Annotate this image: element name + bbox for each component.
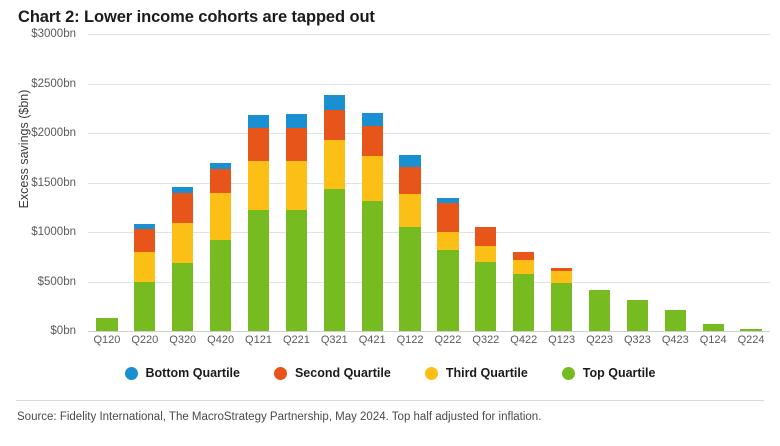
bar-segment[interactable] (513, 260, 534, 274)
y-axis-tick-label: $2500bn (14, 78, 76, 90)
legend-item-label: Second Quartile (295, 366, 391, 380)
bar-segment[interactable] (172, 263, 193, 331)
bar-segment[interactable] (248, 161, 269, 211)
bar-column[interactable] (277, 34, 315, 331)
bar-segment[interactable] (172, 223, 193, 263)
x-axis-tick-label: Q121 (240, 334, 278, 346)
legend-item-third[interactable]: Third Quartile (425, 366, 528, 380)
axis-baseline (88, 331, 770, 332)
bar-segment[interactable] (437, 203, 458, 232)
bar-column[interactable] (467, 34, 505, 331)
bar-column[interactable] (88, 34, 126, 331)
bar-segment[interactable] (324, 110, 345, 140)
bar-stack (703, 324, 724, 331)
bar-segment[interactable] (172, 187, 193, 194)
plot-area: Excess savings ($bn) $0bn$500bn$1000bn$1… (0, 34, 780, 334)
x-axis-tick-label: Q224 (732, 334, 770, 346)
bar-stack (589, 290, 610, 331)
bar-segment[interactable] (324, 189, 345, 331)
bar-segment[interactable] (248, 115, 269, 128)
x-axis-ticks: Q120Q220Q320Q420Q121Q221Q321Q421Q122Q222… (88, 334, 770, 346)
x-axis-tick-label: Q422 (505, 334, 543, 346)
y-axis-tick-label: $0bn (14, 325, 76, 337)
y-axis-ticks: $0bn$500bn$1000bn$1500bn$2000bn$2500bn$3… (14, 34, 76, 334)
bar-stack (362, 113, 383, 331)
bar-segment[interactable] (399, 227, 420, 331)
bar-segment[interactable] (740, 329, 761, 331)
bar-stack (437, 198, 458, 331)
bar-segment[interactable] (286, 161, 307, 210)
bar-segment[interactable] (324, 95, 345, 110)
bar-segment[interactable] (248, 128, 269, 161)
bar-column[interactable] (353, 34, 391, 331)
y-axis-tick-label: $3000bn (14, 28, 76, 40)
bar-segment[interactable] (399, 194, 420, 227)
bar-segment[interactable] (589, 290, 610, 331)
bar-segment[interactable] (362, 113, 383, 126)
bar-column[interactable] (315, 34, 353, 331)
bar-column[interactable] (202, 34, 240, 331)
bar-segment[interactable] (475, 246, 496, 262)
bar-segment[interactable] (134, 282, 155, 332)
x-axis-tick-label: Q223 (581, 334, 619, 346)
x-axis-tick-label: Q220 (126, 334, 164, 346)
bar-segment[interactable] (513, 274, 534, 331)
bar-segment[interactable] (513, 252, 534, 260)
bar-segment[interactable] (703, 324, 724, 331)
bar-column[interactable] (656, 34, 694, 331)
bar-segment[interactable] (475, 262, 496, 331)
x-axis-tick-label: Q320 (164, 334, 202, 346)
bar-segment[interactable] (362, 156, 383, 202)
bar-stack (665, 310, 686, 331)
legend-swatch-icon (425, 367, 438, 380)
bar-stack (551, 268, 572, 331)
chart-legend: Bottom QuartileSecond QuartileThird Quar… (0, 366, 780, 380)
y-axis-tick-label: $1500bn (14, 177, 76, 189)
x-axis-tick-label: Q222 (429, 334, 467, 346)
bar-stack (248, 115, 269, 331)
legend-item-bottom[interactable]: Bottom Quartile (125, 366, 240, 380)
legend-swatch-icon (274, 367, 287, 380)
x-axis-tick-label: Q323 (618, 334, 656, 346)
x-axis-tick-label: Q123 (543, 334, 581, 346)
x-axis-tick-label: Q423 (656, 334, 694, 346)
bar-series-group (88, 34, 770, 331)
y-axis-tick-label: $2000bn (14, 127, 76, 139)
x-axis-tick-label: Q321 (315, 334, 353, 346)
bar-segment[interactable] (399, 155, 420, 167)
bar-segment[interactable] (210, 169, 231, 194)
bar-column[interactable] (126, 34, 164, 331)
bar-segment[interactable] (437, 232, 458, 250)
bar-column[interactable] (694, 34, 732, 331)
bar-stack (286, 114, 307, 331)
x-axis-tick-label: Q221 (277, 334, 315, 346)
bar-stack (399, 155, 420, 331)
chart-page: Chart 2: Lower income cohorts are tapped… (0, 0, 780, 446)
bar-segment[interactable] (475, 227, 496, 246)
bar-column[interactable] (429, 34, 467, 331)
bar-column[interactable] (391, 34, 429, 331)
y-axis-tick-label: $500bn (14, 276, 76, 288)
bar-stack (172, 187, 193, 332)
bar-segment[interactable] (96, 318, 117, 331)
bar-stack (134, 224, 155, 331)
bar-stack (627, 300, 648, 331)
bar-segment[interactable] (665, 310, 686, 331)
bar-column[interactable] (505, 34, 543, 331)
bar-segment[interactable] (248, 210, 269, 331)
source-note: Source: Fidelity International, The Macr… (17, 411, 541, 423)
footer-divider (16, 400, 764, 401)
bar-segment[interactable] (324, 140, 345, 190)
bar-segment[interactable] (134, 229, 155, 252)
legend-item-label: Bottom Quartile (146, 366, 240, 380)
bar-segment[interactable] (286, 210, 307, 331)
legend-swatch-icon (125, 367, 138, 380)
bar-column[interactable] (618, 34, 656, 331)
bar-column[interactable] (240, 34, 278, 331)
bar-segment[interactable] (627, 300, 648, 331)
bar-stack (740, 329, 761, 331)
x-axis-tick-label: Q420 (202, 334, 240, 346)
legend-item-label: Top Quartile (583, 366, 656, 380)
bar-segment[interactable] (134, 252, 155, 282)
bar-segment[interactable] (551, 271, 572, 283)
bar-segment[interactable] (286, 114, 307, 128)
x-axis-tick-label: Q421 (353, 334, 391, 346)
bar-stack (475, 227, 496, 331)
bar-stack (96, 318, 117, 331)
bar-segment[interactable] (362, 201, 383, 331)
x-axis-tick-label: Q124 (694, 334, 732, 346)
y-axis-tick-label: $1000bn (14, 226, 76, 238)
bar-segment[interactable] (210, 193, 231, 240)
x-axis-tick-label: Q322 (467, 334, 505, 346)
bar-segment[interactable] (551, 283, 572, 332)
bar-segment[interactable] (437, 250, 458, 331)
bar-segment[interactable] (286, 128, 307, 162)
bar-segment[interactable] (210, 240, 231, 331)
legend-item-top[interactable]: Top Quartile (562, 366, 656, 380)
bar-column[interactable] (581, 34, 619, 331)
page-title: Chart 2: Lower income cohorts are tapped… (18, 8, 375, 27)
bar-column[interactable] (732, 34, 770, 331)
bar-stack (210, 163, 231, 331)
x-axis-tick-label: Q120 (88, 334, 126, 346)
bar-segment[interactable] (399, 167, 420, 195)
bar-column[interactable] (164, 34, 202, 331)
bar-segment[interactable] (362, 126, 383, 156)
bar-segment[interactable] (172, 193, 193, 223)
legend-swatch-icon (562, 367, 575, 380)
legend-item-second[interactable]: Second Quartile (274, 366, 391, 380)
bar-stack (513, 252, 534, 331)
bar-stack (324, 95, 345, 331)
x-axis-tick-label: Q122 (391, 334, 429, 346)
legend-item-label: Third Quartile (446, 366, 528, 380)
bar-column[interactable] (543, 34, 581, 331)
